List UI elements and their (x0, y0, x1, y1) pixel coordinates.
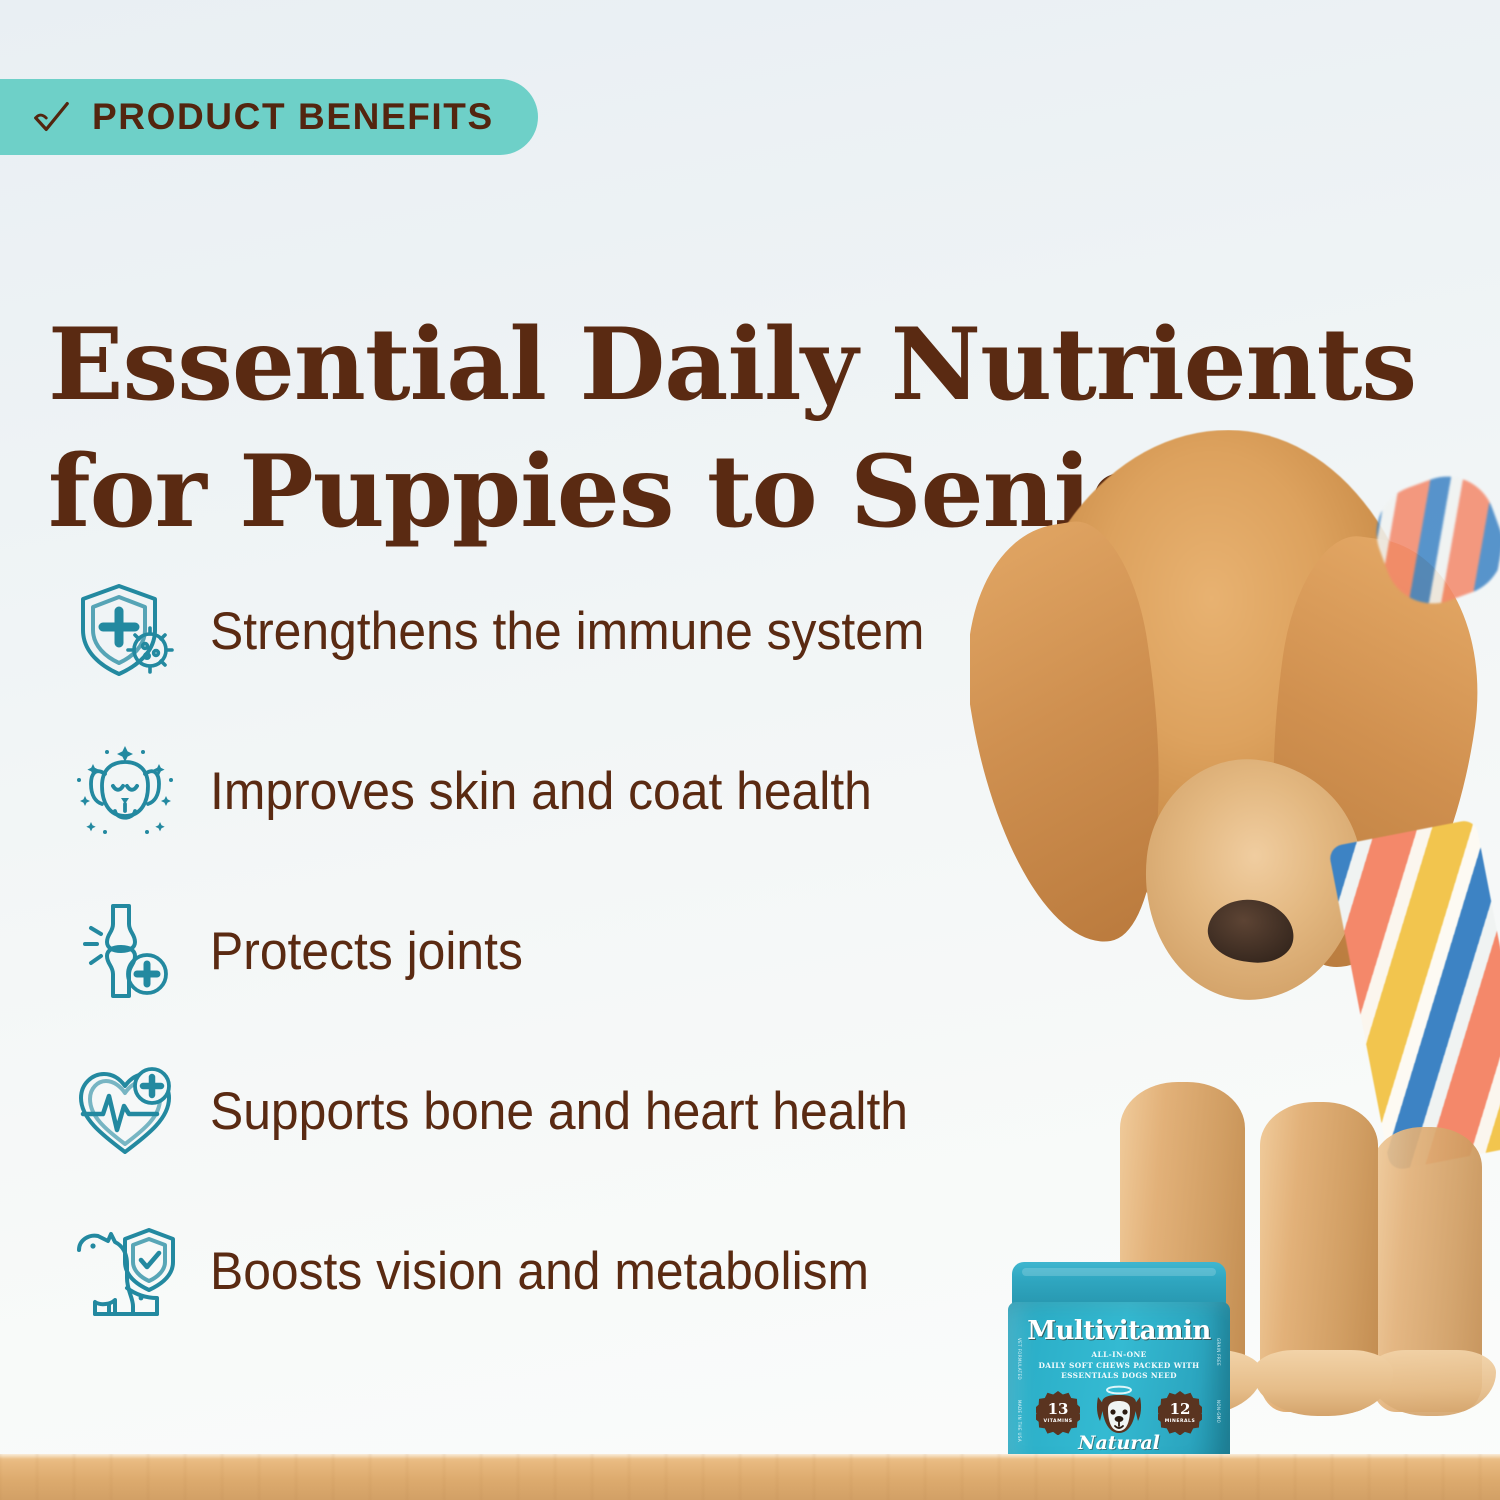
badge-label: PRODUCT BENEFITS (92, 96, 494, 138)
benefit-item: Supports bone and heart health (62, 1032, 1122, 1192)
jar-side-text-right-top: GRAIN FREE (1216, 1338, 1221, 1366)
jar-side-text-left-top: VET FORMULATED (1017, 1338, 1022, 1380)
jar-side-text-left-bottom: MADE IN THE USA (1017, 1400, 1022, 1442)
vitamins-label: VITAMINS (1043, 1419, 1072, 1424)
product-subtitle-line-3: ESSENTIALS DOGS NEED (1008, 1371, 1230, 1382)
product-subtitle-line-2: DAILY SOFT CHEWS PACKED WITH (1008, 1361, 1230, 1372)
benefit-item: Strengthens the immune system (62, 552, 1122, 712)
product-subtitle: ALL-IN-ONE DAILY SOFT CHEWS PACKED WITH … (1008, 1350, 1230, 1382)
benefit-label: Strengthens the immune system (210, 604, 924, 660)
shield-virus-icon (62, 576, 188, 688)
product-title: Multivitamin (1008, 1316, 1230, 1346)
benefits-list: Strengthens the immune system (62, 552, 1122, 1352)
benefit-item: Boosts vision and metabolism (62, 1192, 1122, 1352)
benefit-label: Supports bone and heart health (210, 1084, 908, 1140)
check-icon (30, 96, 72, 138)
vitamins-count: 13 (1048, 1402, 1069, 1417)
wooden-floor (0, 1454, 1500, 1500)
jar-body: Multivitamin ALL-IN-ONE DAILY SOFT CHEWS… (1008, 1302, 1230, 1470)
joint-bone-cross-icon (62, 896, 188, 1008)
product-jar: Multivitamin ALL-IN-ONE DAILY SOFT CHEWS… (1008, 1262, 1230, 1470)
heart-pulse-cross-icon (62, 1056, 188, 1168)
brand-name: Natural (1008, 1434, 1230, 1453)
jar-side-text-right-bottom: NON-GMO (1216, 1400, 1221, 1423)
vitamins-badge: 13 VITAMINS (1036, 1391, 1080, 1435)
dog-shield-check-icon (62, 1216, 188, 1328)
benefit-item: Protects joints (62, 872, 1122, 1032)
product-subtitle-line-1: ALL-IN-ONE (1008, 1350, 1230, 1361)
floor-grain (0, 1454, 1500, 1500)
minerals-badge: 12 MINERALS (1158, 1391, 1202, 1435)
product-benefits-badge: PRODUCT BENEFITS (0, 79, 538, 155)
headline-line-1: Essential Daily Nutrients (48, 302, 1468, 429)
benefit-label: Protects joints (210, 924, 523, 980)
product-benefits-poster: PRODUCT BENEFITS Essential Daily Nutrien… (0, 0, 1500, 1500)
minerals-label: MINERALS (1165, 1419, 1196, 1424)
benefit-label: Boosts vision and metabolism (210, 1244, 869, 1300)
dog-face-sparkle-icon (62, 736, 188, 848)
benefit-label: Improves skin and coat health (210, 764, 872, 820)
benefit-item: Improves skin and coat health (62, 712, 1122, 872)
minerals-count: 12 (1170, 1402, 1191, 1417)
